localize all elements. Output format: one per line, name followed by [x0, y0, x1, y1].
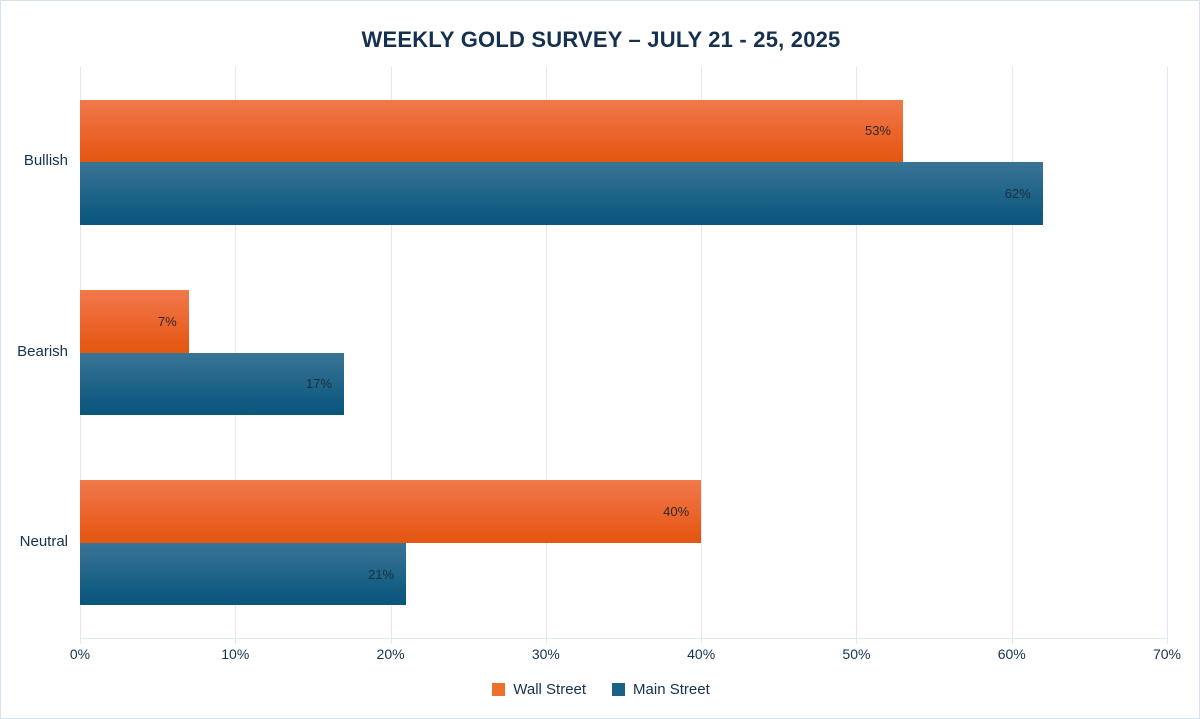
x-axis-tick-label: 20% [377, 646, 405, 662]
gridline [1167, 67, 1168, 638]
bar-row: 40% [80, 480, 1167, 543]
bar-row: 7% [80, 290, 1167, 353]
bar-bearish-wall-street[interactable]: 7% [80, 290, 189, 353]
x-axis-tick-label: 0% [70, 646, 90, 662]
bar-bullish-main-street[interactable]: 62% [80, 162, 1043, 225]
x-axis-tick-mark [391, 638, 392, 644]
bar-value-label: 40% [663, 504, 701, 519]
category-label-neutral: Neutral [20, 533, 68, 550]
bar-value-label: 17% [306, 376, 344, 391]
chart-container: WEEKLY GOLD SURVEY – JULY 21 - 25, 2025 … [0, 0, 1200, 719]
category-axis-labels: BullishBearishNeutral [1, 67, 80, 638]
bar-value-label: 7% [158, 314, 189, 329]
chart-legend: Wall StreetMain Street [1, 681, 1200, 698]
legend-item-main-street[interactable]: Main Street [612, 681, 710, 698]
bar-row: 17% [80, 353, 1167, 416]
x-axis-tick-mark [1012, 638, 1013, 644]
x-axis-tick-mark [856, 638, 857, 644]
bar-group-bearish: 7%17% [80, 290, 1167, 415]
x-axis-tick-label: 50% [842, 646, 870, 662]
bar-neutral-wall-street[interactable]: 40% [80, 480, 701, 543]
bar-row: 53% [80, 100, 1167, 163]
x-axis-tick-label: 60% [998, 646, 1026, 662]
legend-label: Main Street [633, 681, 710, 698]
category-label-bearish: Bearish [17, 343, 68, 360]
x-axis-tick-label: 40% [687, 646, 715, 662]
legend-label: Wall Street [513, 681, 586, 698]
bar-group-neutral: 40%21% [80, 480, 1167, 605]
legend-item-wall-street[interactable]: Wall Street [492, 681, 586, 698]
bar-bullish-wall-street[interactable]: 53% [80, 100, 903, 163]
bar-value-label: 62% [1005, 186, 1043, 201]
x-axis-tick-labels: 0%10%20%30%40%50%60%70% [80, 646, 1167, 668]
bar-row: 21% [80, 543, 1167, 606]
bar-value-label: 21% [368, 567, 406, 582]
x-axis-tick-mark [235, 638, 236, 644]
x-axis-tick-mark [546, 638, 547, 644]
x-axis-tick-label: 10% [221, 646, 249, 662]
category-label-bullish: Bullish [24, 152, 68, 169]
x-axis-tick-mark [701, 638, 702, 644]
x-axis-tick-label: 30% [532, 646, 560, 662]
x-axis-line [80, 638, 1167, 639]
bar-bearish-main-street[interactable]: 17% [80, 353, 344, 416]
bar-row: 62% [80, 162, 1167, 225]
bar-value-label: 53% [865, 123, 903, 138]
x-axis-tick-mark [1167, 638, 1168, 644]
legend-swatch-icon [492, 683, 505, 696]
chart-title: WEEKLY GOLD SURVEY – JULY 21 - 25, 2025 [1, 27, 1200, 53]
x-axis-tick-label: 70% [1153, 646, 1181, 662]
bar-neutral-main-street[interactable]: 21% [80, 543, 406, 606]
legend-swatch-icon [612, 683, 625, 696]
plot-area: 53%62%7%17%40%21% [80, 67, 1167, 638]
x-axis-tick-mark [80, 638, 81, 644]
bar-group-bullish: 53%62% [80, 100, 1167, 225]
